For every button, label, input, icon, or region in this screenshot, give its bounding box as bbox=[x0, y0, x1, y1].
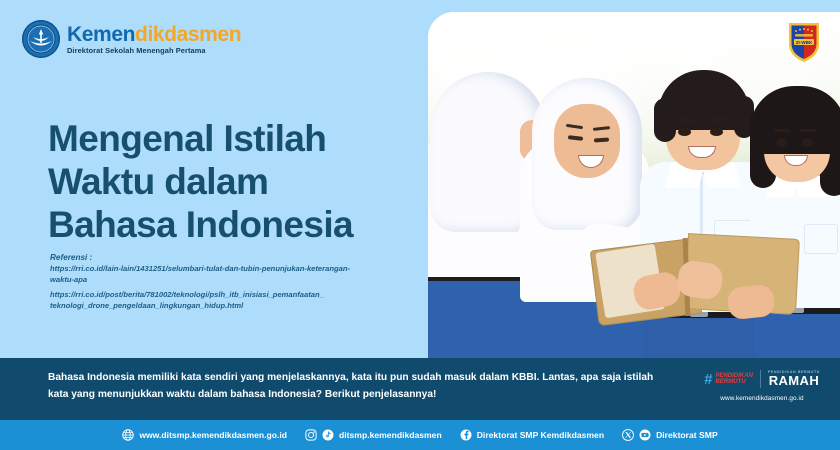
footer-label-instagram-tiktok: ditsmp.kemendikdasmen bbox=[339, 430, 442, 440]
summary-message: Bahasa Indonesia memiliki kata sendiri y… bbox=[48, 370, 668, 404]
pendidikan-bermutu-logo: # PENDIDIKAN BERMUTU bbox=[704, 372, 753, 387]
infographic-banner: Kemendikdasmen Direktorat Sekolah Meneng… bbox=[0, 0, 840, 450]
page-title: Mengenal Istilah Waktu dalam Bahasa Indo… bbox=[48, 117, 420, 247]
tut-wuri-handayani-emblem-icon bbox=[22, 20, 60, 58]
campaign-divider bbox=[760, 370, 761, 388]
brand-wordmark: Kemendikdasmen Direktorat Sekolah Meneng… bbox=[67, 24, 241, 54]
brand-logo-lockup: Kemendikdasmen Direktorat Sekolah Meneng… bbox=[22, 20, 241, 58]
ramah-logo: PENDIDIKAN BERMUTU RAMAH bbox=[768, 371, 820, 388]
headline-line-1: Mengenal Istilah bbox=[48, 117, 420, 160]
summary-message-band: Bahasa Indonesia memiliki kata sendiri y… bbox=[0, 358, 840, 420]
brand-subtitle: Direktorat Sekolah Menengah Pertama bbox=[67, 47, 241, 54]
ramah-label: RAMAH bbox=[768, 374, 820, 387]
footer-item-website[interactable]: www.ditsmp.kemendikdasmen.go.id bbox=[122, 429, 287, 441]
facebook-icon bbox=[460, 429, 472, 441]
footer-label-x-youtube: Direktorat SMP bbox=[656, 430, 718, 440]
campaign-logos: # PENDIDIKAN BERMUTU PENDIDIKAN BERMUTU … bbox=[698, 368, 826, 402]
brand-title: Kemendikdasmen bbox=[67, 24, 241, 45]
twitter-x-icon bbox=[622, 429, 634, 441]
references-label: Referensi : bbox=[50, 253, 430, 262]
youtube-icon bbox=[639, 429, 651, 441]
reference-url-2-line-2: teknologi_drone_pengeldaan_lingkungan_hi… bbox=[50, 300, 430, 311]
summary-line-1: Bahasa Indonesia memiliki kata sendiri y… bbox=[48, 370, 668, 387]
footer-item-instagram-tiktok[interactable]: ditsmp.kemendikdasmen bbox=[305, 429, 442, 441]
hashtag-icon: # bbox=[704, 372, 712, 387]
reference-url-2-line-1: https://rri.co.id/post/berita/781002/tek… bbox=[50, 289, 430, 300]
instagram-icon bbox=[305, 429, 317, 441]
reference-url-1-line-2: waktu-apa bbox=[50, 274, 430, 285]
references-block: Referensi : https://rri.co.id/lain-lain/… bbox=[50, 253, 430, 311]
svg-text:ZI-WBK: ZI-WBK bbox=[796, 40, 813, 45]
campaign-url: www.kemendikdasmen.go.id bbox=[698, 395, 826, 402]
globe-icon bbox=[122, 429, 134, 441]
social-footer-bar: www.ditsmp.kemendikdasmen.go.id ditsmp.k… bbox=[0, 420, 840, 450]
brand-title-part1: Kemen bbox=[67, 23, 135, 46]
summary-line-2: kata yang menunjukkan waktu dalam bahasa… bbox=[48, 387, 668, 404]
headline-line-3: Bahasa Indonesia bbox=[48, 203, 420, 246]
footer-label-facebook: Direktorat SMP Kemdikdasmen bbox=[477, 430, 604, 440]
brand-title-part2: dikdasmen bbox=[135, 23, 241, 46]
headline-line-2: Waktu dalam bbox=[48, 160, 420, 203]
footer-label-website: www.ditsmp.kemendikdasmen.go.id bbox=[139, 430, 287, 440]
students-reading-illustration bbox=[428, 12, 840, 360]
reference-url-1-line-1: https://rri.co.id/lain-lain/1431251/selu… bbox=[50, 263, 430, 274]
footer-item-facebook[interactable]: Direktorat SMP Kemdikdasmen bbox=[460, 429, 604, 441]
shield-badge-icon: ZI-WBK bbox=[786, 20, 822, 64]
campaign-word-2: BERMUTU bbox=[715, 379, 753, 386]
tiktok-icon bbox=[322, 429, 334, 441]
footer-item-x-youtube[interactable]: Direktorat SMP bbox=[622, 429, 718, 441]
